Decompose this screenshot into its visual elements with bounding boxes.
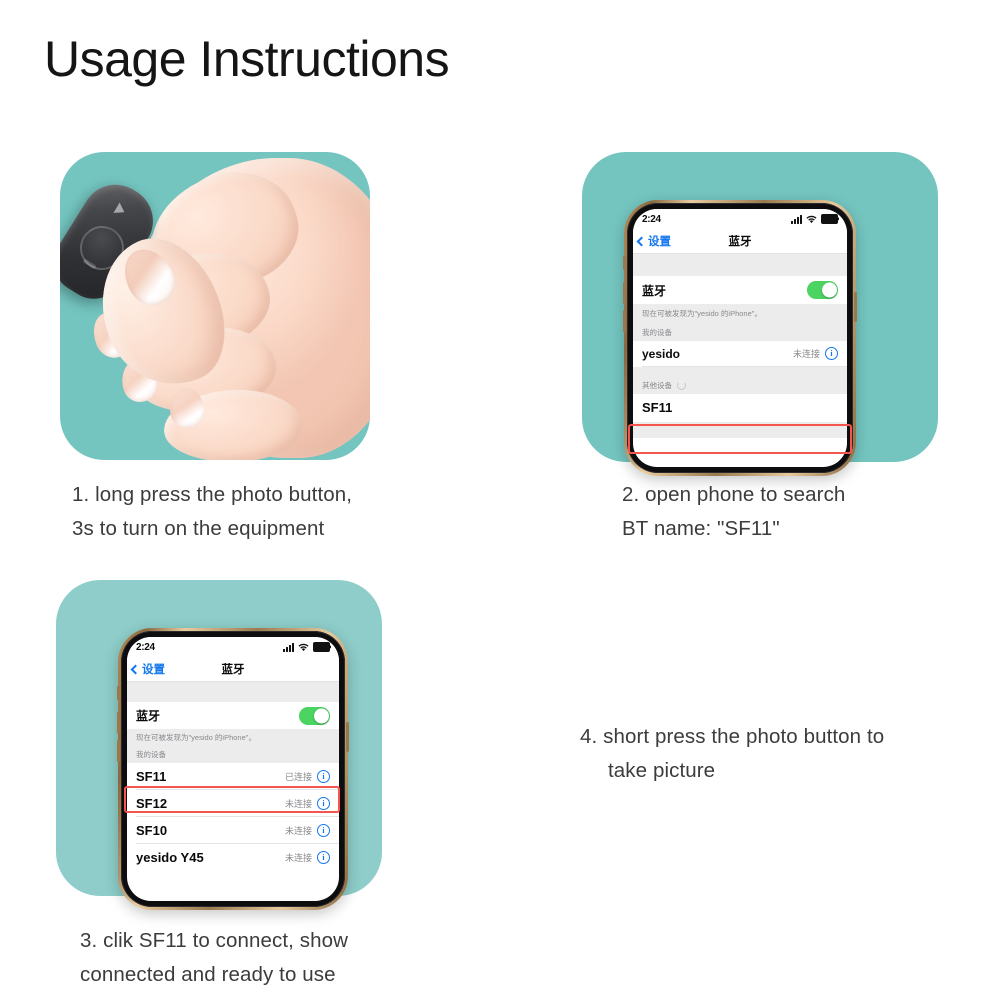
nav-title: 蓝牙 xyxy=(222,661,245,677)
device-row-yesido-y45[interactable]: yesido Y45 未连接 i xyxy=(127,844,339,871)
device-row-right: 已连接 i xyxy=(285,770,330,783)
status-bar-clock: 2:24 xyxy=(136,642,155,653)
chevron-left-icon xyxy=(131,664,141,674)
body-top-gap xyxy=(633,254,847,276)
step-2-caption-line-1: 2. open phone to search xyxy=(622,478,845,512)
discoverable-note: 现在可被发现为"yesido 的iPhone"。 xyxy=(633,304,847,323)
step-3-caption-line-1: 3. clik SF11 to connect, show xyxy=(80,924,348,958)
my-devices-header-text: 我的设备 xyxy=(642,327,672,338)
triangle-play-marker-icon xyxy=(113,203,127,218)
bluetooth-row-label: 蓝牙 xyxy=(642,282,666,299)
wifi-icon xyxy=(298,643,309,652)
nav-title: 蓝牙 xyxy=(729,233,752,249)
bluetooth-toggle-row[interactable]: 蓝牙 xyxy=(633,276,847,304)
bluetooth-settings-body: 蓝牙 现在可被发现为"yesido 的iPhone"。 我的设备 yesido … xyxy=(633,254,847,438)
other-devices-header: 其他设备 xyxy=(633,377,847,394)
device-name: SF11 xyxy=(642,400,672,415)
step-1-caption-line-1: 1. long press the photo button, xyxy=(72,478,352,512)
navigation-bar: 设置 蓝牙 xyxy=(127,657,339,682)
body-bottom-gap xyxy=(633,422,847,438)
step-1-caption-line-2: 3s to turn on the equipment xyxy=(72,512,352,546)
toggle-knob xyxy=(314,708,329,723)
body-top-gap xyxy=(127,682,339,702)
info-circle-icon[interactable]: i xyxy=(317,770,330,783)
other-devices-header-text: 其他设备 xyxy=(642,380,672,391)
info-circle-icon[interactable]: i xyxy=(825,347,838,360)
section-gap xyxy=(633,367,847,377)
back-to-settings-button[interactable]: 设置 xyxy=(132,661,165,677)
page-title: Usage Instructions xyxy=(44,32,449,87)
step-2-caption: 2. open phone to search BT name: "SF11" xyxy=(622,478,845,546)
info-circle-icon[interactable]: i xyxy=(317,797,330,810)
loading-spinner-icon xyxy=(677,381,686,390)
device-row-right: 未连接 i xyxy=(285,797,330,810)
device-status: 未连接 xyxy=(285,851,312,864)
row-separator xyxy=(642,366,847,367)
bluetooth-toggle[interactable] xyxy=(299,707,330,725)
step-4-caption-line-2: take picture xyxy=(580,754,884,788)
device-row-right: 未连接 i xyxy=(285,851,330,864)
device-status: 未连接 xyxy=(285,797,312,810)
battery-icon xyxy=(313,642,330,652)
chevron-left-icon xyxy=(637,236,647,246)
status-bar-icons xyxy=(283,642,330,652)
device-name: yesido xyxy=(642,347,680,361)
phone-power-button[interactable] xyxy=(854,292,857,322)
phone-volume-down-button[interactable] xyxy=(117,740,120,762)
wifi-icon xyxy=(806,215,817,224)
discoverable-note: 现在可被发现为"yesido 的iPhone"。 xyxy=(127,729,339,746)
device-row-sf12[interactable]: SF12 未连接 i xyxy=(127,790,339,817)
phone-mute-switch[interactable] xyxy=(623,256,626,270)
status-bar: 2:24 xyxy=(127,637,339,657)
phone-power-button[interactable] xyxy=(346,722,349,752)
bluetooth-toggle-row[interactable]: 蓝牙 xyxy=(127,702,339,729)
back-label: 设置 xyxy=(648,233,671,249)
device-name: SF11 xyxy=(136,769,166,784)
iphone-bluetooth-search: 2:24 xyxy=(624,200,856,476)
phone-screen: 2:24 xyxy=(127,637,339,901)
device-name: yesido Y45 xyxy=(136,850,204,865)
device-row-yesido[interactable]: yesido 未连接 i xyxy=(633,341,847,367)
toggle-knob xyxy=(822,283,837,298)
info-circle-icon[interactable]: i xyxy=(317,824,330,837)
bluetooth-row-label: 蓝牙 xyxy=(136,707,160,724)
back-label: 设置 xyxy=(142,661,165,677)
navigation-bar: 设置 蓝牙 xyxy=(633,229,847,254)
device-row-right: 未连接 i xyxy=(285,824,330,837)
device-name: SF10 xyxy=(136,823,167,838)
phone-volume-up-button[interactable] xyxy=(117,712,120,734)
step-3-caption-line-2: connected and ready to use xyxy=(80,958,348,992)
phone-screen: 2:24 xyxy=(633,209,847,467)
back-to-settings-button[interactable]: 设置 xyxy=(638,233,671,249)
my-devices-header-text: 我的设备 xyxy=(136,749,166,760)
device-row-sf11[interactable]: SF11 已连接 i xyxy=(127,763,339,790)
cellular-bars-icon xyxy=(283,643,294,652)
battery-icon xyxy=(821,214,838,224)
status-bar: 2:24 xyxy=(633,209,847,229)
iphone-bluetooth-connected: 2:24 xyxy=(118,628,348,910)
device-status: 已连接 xyxy=(285,770,312,783)
device-name: SF12 xyxy=(136,796,167,811)
step-1-caption: 1. long press the photo button, 3s to tu… xyxy=(72,478,352,546)
phone-volume-down-button[interactable] xyxy=(623,310,626,332)
device-status: 未连接 xyxy=(793,347,820,360)
step-2-caption-line-2: BT name: "SF11" xyxy=(622,512,845,546)
device-row-sf11[interactable]: SF11 xyxy=(633,394,847,422)
phone-volume-up-button[interactable] xyxy=(623,282,626,304)
status-bar-icons xyxy=(791,214,838,224)
cellular-bars-icon xyxy=(791,215,802,224)
device-row-right: 未连接 i xyxy=(793,347,838,360)
phone-mute-switch[interactable] xyxy=(117,686,120,700)
device-status: 未连接 xyxy=(285,824,312,837)
step-4-caption: 4. short press the photo button to take … xyxy=(580,720,884,788)
device-row-sf10[interactable]: SF10 未连接 i xyxy=(127,817,339,844)
info-circle-icon[interactable]: i xyxy=(317,851,330,864)
my-devices-header: 我的设备 xyxy=(633,323,847,341)
bluetooth-toggle[interactable] xyxy=(807,281,838,299)
bluetooth-settings-body: 蓝牙 现在可被发现为"yesido 的iPhone"。 我的设备 SF11 已连… xyxy=(127,682,339,871)
my-devices-header: 我的设备 xyxy=(127,746,339,763)
step-4-caption-line-1: 4. short press the photo button to xyxy=(580,720,884,754)
status-bar-clock: 2:24 xyxy=(642,214,661,225)
usage-instructions-page: Usage Instructions 1. long press the pho… xyxy=(0,0,1000,1000)
hand-holding-remote-illustration xyxy=(60,152,370,460)
step-3-caption: 3. clik SF11 to connect, show connected … xyxy=(80,924,348,992)
